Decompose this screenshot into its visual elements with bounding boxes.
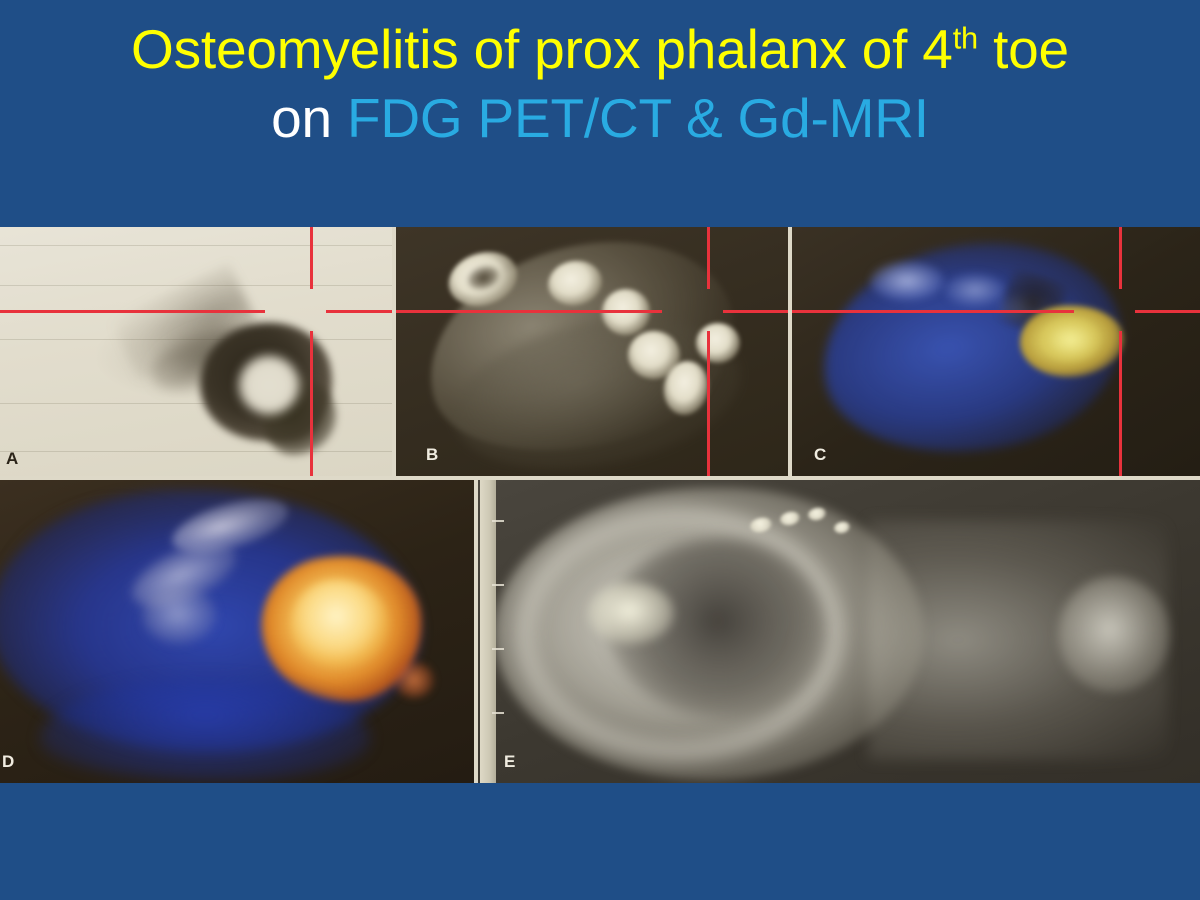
title-trailing-text: toe (978, 18, 1069, 80)
panel-gutter-horizontal (0, 476, 1200, 480)
fusion-bone-highlight (870, 261, 944, 301)
fusion-bone-highlight (944, 273, 1006, 307)
panel-label-c: C (814, 445, 827, 465)
page-subtitle: on FDG PET/CT & Gd-MRI (0, 87, 1200, 150)
panel-label-d: D (2, 752, 15, 772)
slide-title-block: Osteomyelitis of prox phalanx of 4th toe… (0, 0, 1200, 227)
subtitle-modalities: FDG PET/CT & Gd-MRI (347, 87, 929, 149)
crosshair-horizontal-a (326, 310, 392, 313)
mri-bright-focus (588, 582, 674, 644)
page-title: Osteomyelitis of prox phalanx of 4th toe (0, 18, 1200, 81)
crosshair-horizontal-c (1135, 310, 1200, 313)
crosshair-vertical-b (707, 331, 710, 476)
slide-bottom-band (0, 783, 1200, 900)
crosshair-vertical-a (310, 227, 313, 289)
panel-a-pet-sagittal: A (0, 227, 392, 476)
ruler-tick (492, 584, 504, 586)
crosshair-vertical-c (1119, 331, 1122, 476)
ruler-tick (492, 648, 504, 650)
panel-d-petct-fusion-sagittal: D (0, 480, 474, 783)
panel-gutter-vertical (474, 480, 478, 783)
slide-canvas: Osteomyelitis of prox phalanx of 4th toe… (0, 0, 1200, 900)
title-main-text: Osteomyelitis of prox phalanx of 4 (131, 18, 953, 80)
crosshair-vertical-a (310, 331, 313, 476)
crosshair-horizontal-a (0, 310, 265, 313)
panel-gutter-vertical (392, 227, 396, 476)
panel-label-e: E (504, 752, 516, 772)
fdg-hotspot-core (1042, 319, 1100, 361)
subtitle-prefix: on (271, 87, 347, 149)
fdg-hotspot-secondary (394, 662, 434, 698)
ct-bone (696, 323, 740, 363)
scan-line (0, 451, 392, 452)
crosshair-horizontal-b (723, 310, 788, 313)
panel-label-a: A (6, 449, 19, 469)
mri-adjacent-structure (1058, 576, 1170, 692)
mri-scale-ruler (480, 480, 496, 783)
panel-e-gd-mri-axial: E (478, 480, 1200, 783)
ruler-tick (492, 520, 504, 522)
ct-bone-lucency (465, 262, 502, 293)
fdg-hotspot-core (292, 580, 388, 666)
panel-c-petct-fusion-axial: C (792, 227, 1200, 476)
scan-line (0, 245, 392, 246)
pet-uptake-notch (238, 355, 300, 415)
title-ordinal-suffix: th (953, 21, 978, 56)
crosshair-horizontal-c (792, 310, 1074, 313)
panel-b-ct-axial: B (396, 227, 788, 476)
ruler-tick (492, 712, 504, 714)
fusion-bone (142, 586, 216, 644)
crosshair-vertical-b (707, 227, 710, 289)
panel-gutter-vertical (788, 227, 792, 476)
panel-label-b: B (426, 445, 439, 465)
crosshair-horizontal-b (396, 310, 662, 313)
crosshair-vertical-c (1119, 227, 1122, 289)
figure-montage: A B C (0, 227, 1200, 783)
